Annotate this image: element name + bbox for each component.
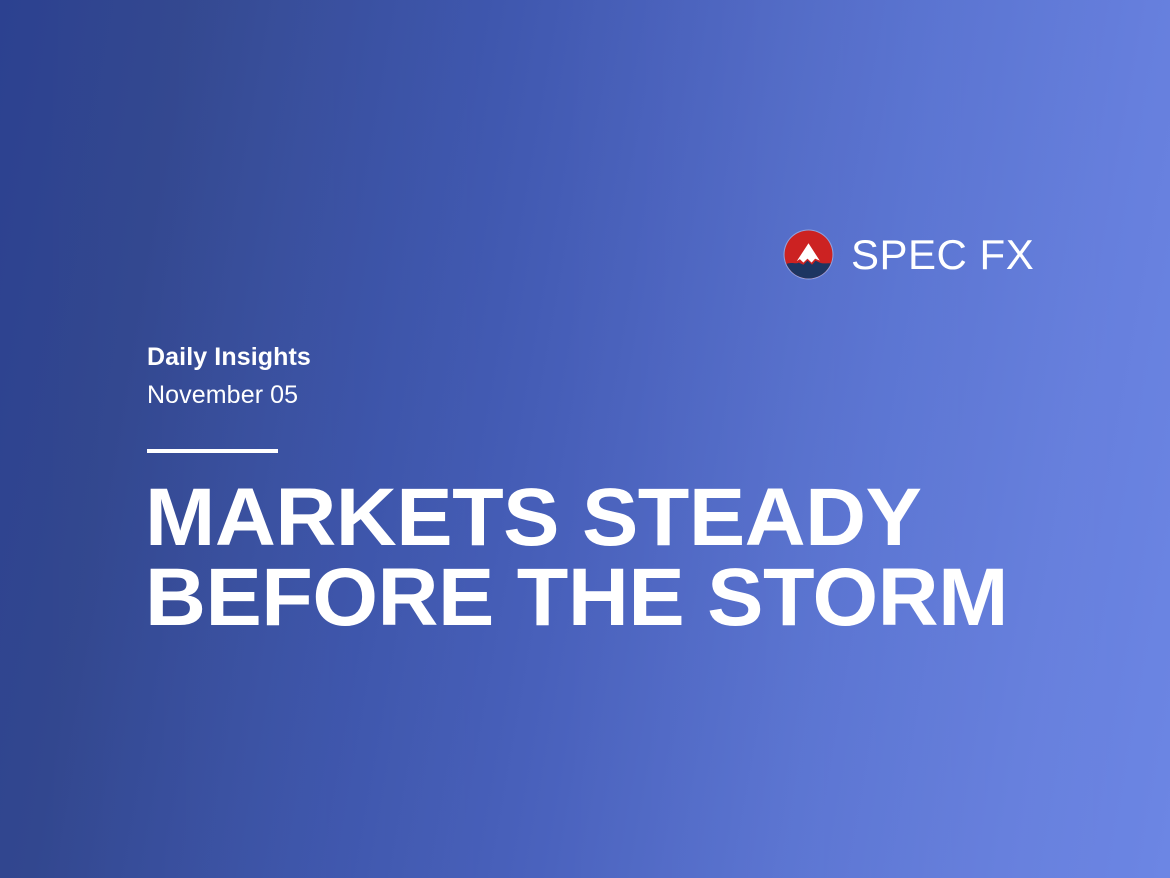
eyebrow-block: Daily Insights November 05 — [147, 341, 847, 412]
date-label: November 05 — [147, 379, 847, 412]
mountain-circle-icon — [783, 229, 834, 280]
slide-canvas: SPEC FX Daily Insights November 05 MARKE… — [0, 0, 1170, 878]
page-title: MARKETS STEADY BEFORE THE STORM — [145, 478, 1045, 638]
brand-lockup: SPEC FX — [783, 229, 1034, 280]
divider-rule — [147, 449, 278, 453]
background-sheen-overlay — [0, 0, 1170, 878]
kicker-label: Daily Insights — [147, 341, 847, 373]
brand-name: SPEC FX — [851, 234, 1034, 276]
headline-line-1: MARKETS STEADY — [145, 478, 1072, 558]
headline-line-2: BEFORE THE STORM — [145, 558, 1072, 638]
